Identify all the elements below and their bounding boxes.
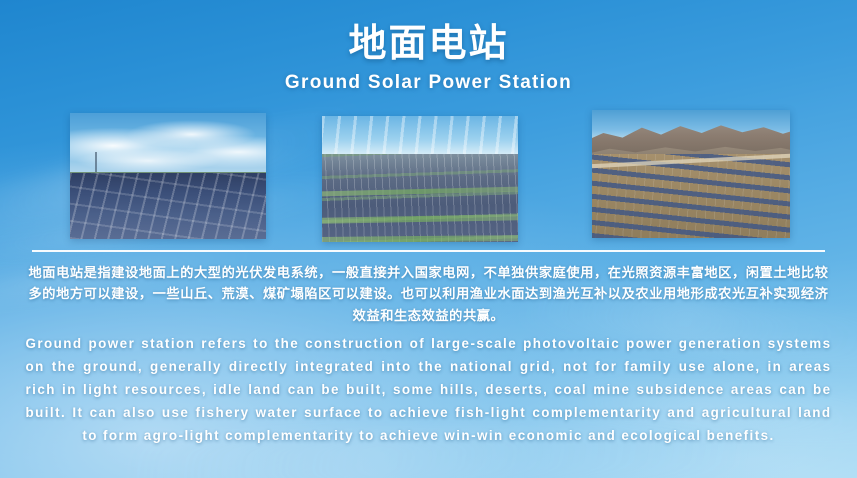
- section-divider: [32, 250, 825, 252]
- photo-hillside-mountain-solar-array: [592, 110, 790, 238]
- photo-solar-panel-field-under-blue-sky: [70, 113, 266, 239]
- photo-2-content: [322, 116, 518, 242]
- sky-region: [70, 113, 266, 176]
- body-text-block: 地面电站是指建设地面上的大型的光伏发电系统，一般直接并入国家电网，不单独供家庭使…: [0, 262, 857, 447]
- slide-canvas: 地面电站 Ground Solar Power Station: [0, 0, 857, 478]
- solar-panel-rows: [70, 173, 266, 239]
- description-paragraph-chinese: 地面电站是指建设地面上的大型的光伏发电系统，一般直接并入国家电网，不单独供家庭使…: [29, 262, 829, 326]
- page-title-english: Ground Solar Power Station: [0, 72, 857, 94]
- description-paragraph-english: Ground power station refers to the const…: [26, 332, 832, 447]
- solar-panel-rows: [322, 154, 518, 242]
- page-title-chinese: 地面电站: [0, 22, 857, 67]
- photo-1-content: [70, 113, 266, 239]
- transmission-tower-icon: [95, 152, 97, 172]
- title-block: 地面电站 Ground Solar Power Station: [0, 22, 857, 94]
- photo-3-content: [592, 110, 790, 238]
- photo-aerial-large-solar-farm: [322, 116, 518, 242]
- sky-region: [322, 116, 518, 156]
- grass-strip: [322, 235, 518, 242]
